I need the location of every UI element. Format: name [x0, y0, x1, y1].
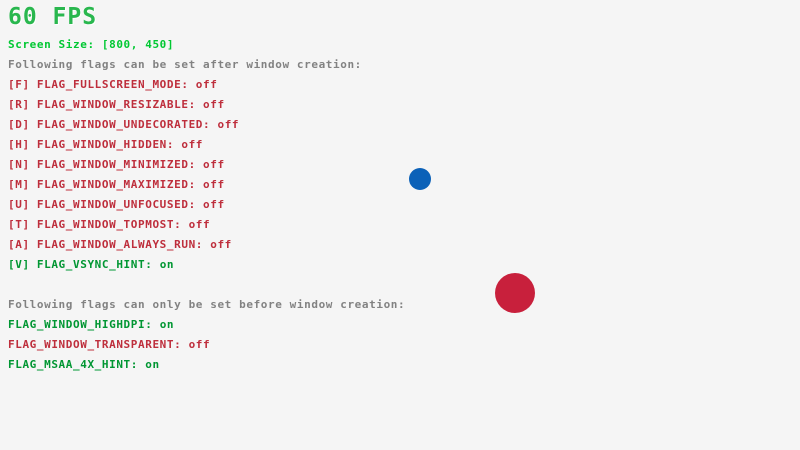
- fps-counter: 60 FPS: [8, 4, 97, 30]
- flag-value: off: [189, 218, 211, 231]
- flag-value: off: [210, 238, 232, 251]
- flag-value: off: [203, 198, 225, 211]
- runtime-flags-list: [F] FLAG_FULLSCREEN_MODE: off[R] FLAG_WI…: [0, 79, 400, 279]
- flag-value: on: [145, 358, 159, 371]
- precreation-flags-heading: Following flags can only be set before w…: [8, 299, 405, 311]
- flag-name: FLAG_MSAA_4X_HINT:: [8, 358, 145, 371]
- flag-name: FLAG_WINDOW_TRANSPARENT:: [8, 338, 189, 351]
- flag-row[interactable]: [U] FLAG_WINDOW_UNFOCUSED: off: [0, 199, 400, 219]
- flag-name: FLAG_WINDOW_ALWAYS_RUN:: [37, 238, 210, 251]
- precreation-flags-list: FLAG_WINDOW_HIGHDPI: onFLAG_WINDOW_TRANS…: [0, 319, 400, 379]
- flag-key: [D]: [8, 118, 37, 131]
- screen-size-label: Screen Size: [800, 450]: [8, 39, 174, 51]
- flag-name: FLAG_WINDOW_TOPMOST:: [37, 218, 189, 231]
- flag-name: FLAG_WINDOW_HIDDEN:: [37, 138, 181, 151]
- flag-row[interactable]: [M] FLAG_WINDOW_MAXIMIZED: off: [0, 179, 400, 199]
- ball-blue: [409, 168, 431, 190]
- flag-name: FLAG_WINDOW_MINIMIZED:: [37, 158, 203, 171]
- flag-row[interactable]: [R] FLAG_WINDOW_RESIZABLE: off: [0, 99, 400, 119]
- flag-key: [U]: [8, 198, 37, 211]
- flag-name: FLAG_WINDOW_HIGHDPI:: [8, 318, 160, 331]
- ball-red: [495, 273, 535, 313]
- app-window: 60 FPS Screen Size: [800, 450] Following…: [0, 0, 800, 450]
- flag-key: [N]: [8, 158, 37, 171]
- flag-row[interactable]: [V] FLAG_VSYNC_HINT: on: [0, 259, 400, 279]
- flag-name: FLAG_WINDOW_UNFOCUSED:: [37, 198, 203, 211]
- flag-row[interactable]: [H] FLAG_WINDOW_HIDDEN: off: [0, 139, 400, 159]
- flag-value: off: [189, 338, 211, 351]
- flag-key: [F]: [8, 78, 37, 91]
- flag-key: [A]: [8, 238, 37, 251]
- flag-name: FLAG_FULLSCREEN_MODE:: [37, 78, 196, 91]
- flag-value: on: [160, 258, 174, 271]
- flag-value: off: [181, 138, 203, 151]
- flag-value: off: [217, 118, 239, 131]
- flag-name: FLAG_WINDOW_UNDECORATED:: [37, 118, 218, 131]
- flag-name: FLAG_VSYNC_HINT:: [37, 258, 160, 271]
- flag-key: [M]: [8, 178, 37, 191]
- flag-row[interactable]: [A] FLAG_WINDOW_ALWAYS_RUN: off: [0, 239, 400, 259]
- flag-key: [V]: [8, 258, 37, 271]
- flag-row[interactable]: [F] FLAG_FULLSCREEN_MODE: off: [0, 79, 400, 99]
- flag-row[interactable]: [D] FLAG_WINDOW_UNDECORATED: off: [0, 119, 400, 139]
- flag-value: on: [160, 318, 174, 331]
- flag-name: FLAG_WINDOW_RESIZABLE:: [37, 98, 203, 111]
- flag-row[interactable]: FLAG_WINDOW_HIGHDPI: on: [0, 319, 400, 339]
- flag-row[interactable]: FLAG_WINDOW_TRANSPARENT: off: [0, 339, 400, 359]
- flag-key: [H]: [8, 138, 37, 151]
- flag-row[interactable]: [T] FLAG_WINDOW_TOPMOST: off: [0, 219, 400, 239]
- flag-row[interactable]: [N] FLAG_WINDOW_MINIMIZED: off: [0, 159, 400, 179]
- flag-value: off: [203, 158, 225, 171]
- flag-value: off: [203, 178, 225, 191]
- runtime-flags-heading: Following flags can be set after window …: [8, 59, 362, 71]
- flag-key: [T]: [8, 218, 37, 231]
- flag-name: FLAG_WINDOW_MAXIMIZED:: [37, 178, 203, 191]
- flag-value: off: [203, 98, 225, 111]
- flag-value: off: [196, 78, 218, 91]
- flag-key: [R]: [8, 98, 37, 111]
- flag-row[interactable]: FLAG_MSAA_4X_HINT: on: [0, 359, 400, 379]
